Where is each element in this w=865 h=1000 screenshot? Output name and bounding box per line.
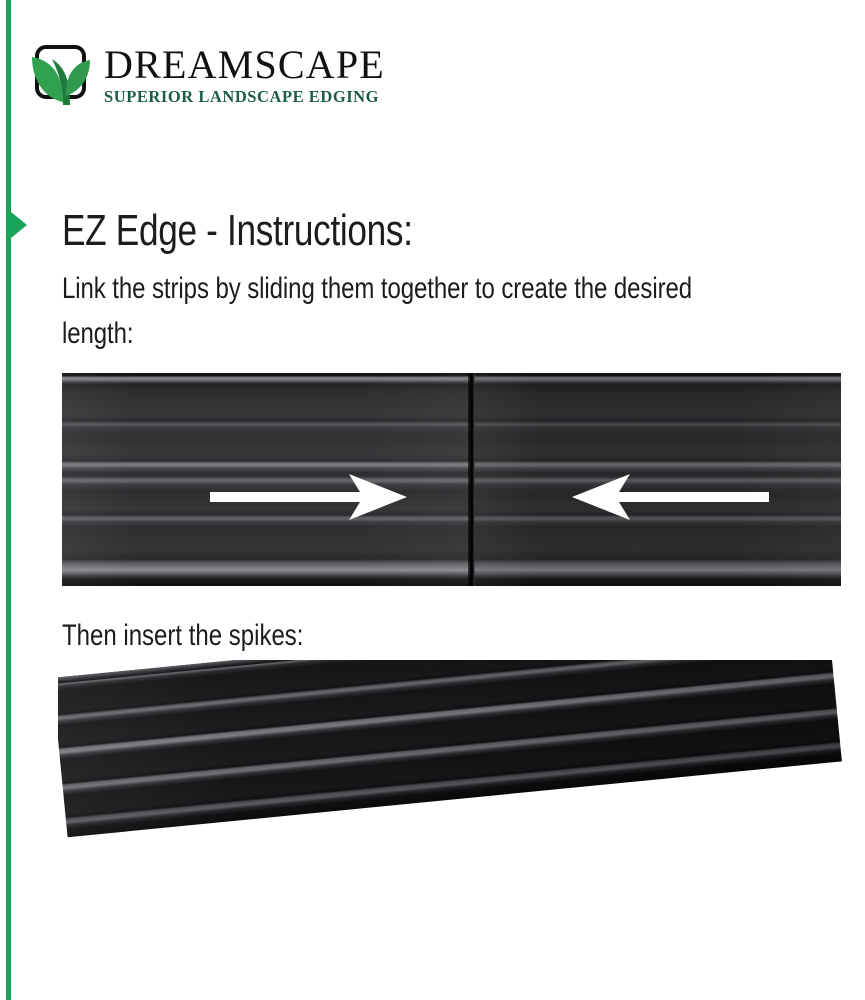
brand-tagline: SUPERIOR LANDSCAPE EDGING bbox=[104, 87, 385, 106]
accent-rail bbox=[6, 0, 11, 1000]
brand-wordmark: DREAMSCAPE SUPERIOR LANDSCAPE EDGING bbox=[104, 42, 385, 106]
edging-with-spike-photo bbox=[58, 660, 848, 1000]
strip-joint-seam bbox=[468, 373, 475, 586]
right-pointing-triangle-icon bbox=[11, 212, 27, 238]
step-1-instruction-text: Link the strips by sliding them together… bbox=[62, 266, 766, 356]
arrow-right-icon bbox=[210, 474, 407, 525]
arrow-left-icon bbox=[572, 474, 769, 525]
brand-logo: DREAMSCAPE SUPERIOR LANDSCAPE EDGING bbox=[30, 42, 385, 114]
two-leaves-in-rounded-square-icon bbox=[30, 42, 92, 108]
linking-strips-photo bbox=[62, 373, 841, 586]
edging-strip bbox=[58, 660, 842, 837]
page-title: EZ Edge - Instructions: bbox=[62, 206, 413, 256]
brand-name: DREAMSCAPE bbox=[104, 44, 385, 86]
step-2-instruction-text: Then insert the spikes: bbox=[62, 615, 303, 657]
instruction-sheet-page: DREAMSCAPE SUPERIOR LANDSCAPE EDGING EZ … bbox=[0, 0, 865, 1000]
edging-shading bbox=[58, 660, 842, 837]
